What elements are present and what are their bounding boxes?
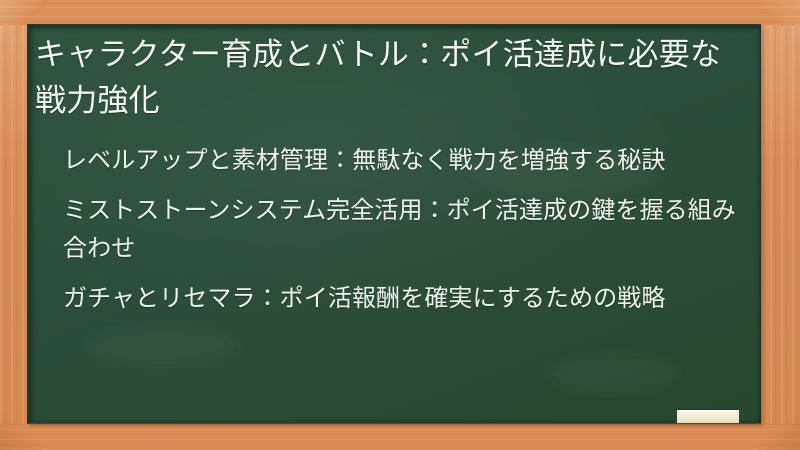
list-item: レベルアップと素材管理：無駄なく戦力を増強する秘訣 [63, 142, 742, 180]
wood-frame-top-rail [0, 0, 800, 26]
board-topic-list: レベルアップと素材管理：無駄なく戦力を増強する秘訣 ミストストーンシステム完全活… [33, 142, 752, 318]
chalk-stick-icon [677, 410, 739, 423]
list-item: ガチャとリセマラ：ポイ活報酬を確実にするための戦略 [63, 280, 742, 318]
chalkboard-surface: キャラクター育成とバトル：ポイ活達成に必要な戦力強化 レベルアップと素材管理：無… [27, 24, 761, 424]
wood-frame-bottom-rail [0, 424, 800, 450]
board-title: キャラクター育成とバトル：ポイ活達成に必要な戦力強化 [33, 32, 752, 124]
list-item: ミストストーンシステム完全活用：ポイ活達成の鍵を握る組み合わせ [63, 192, 742, 268]
board-content: キャラクター育成とバトル：ポイ活達成に必要な戦力強化 レベルアップと素材管理：無… [29, 26, 760, 423]
blackboard-card: キャラクター育成とバトル：ポイ活達成に必要な戦力強化 レベルアップと素材管理：無… [0, 0, 800, 450]
